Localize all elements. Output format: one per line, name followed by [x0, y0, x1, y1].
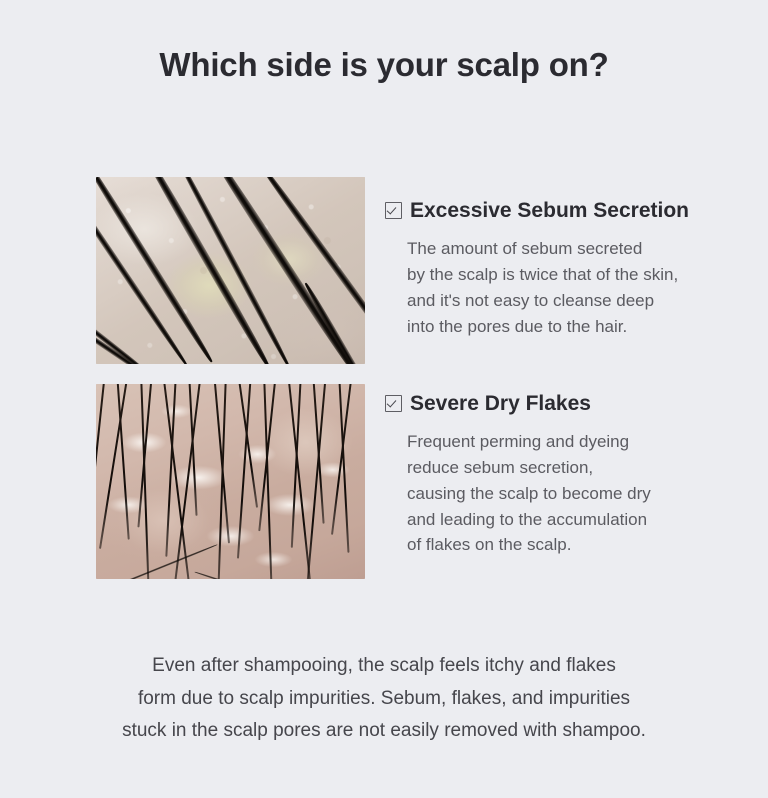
- feature-body-flakes: Frequent perming and dyeing reduce sebum…: [407, 429, 697, 558]
- feature-text-sebum: Excessive Sebum Secretion The amount of …: [385, 177, 697, 339]
- feature-block-sebum: Excessive Sebum Secretion The amount of …: [96, 177, 697, 364]
- feature-heading-label: Excessive Sebum Secretion: [410, 199, 689, 222]
- feature-body-sebum: The amount of sebum secreted by the scal…: [407, 236, 697, 339]
- body-line: by the scalp is twice that of the skin,: [407, 262, 697, 288]
- feature-block-flakes: Severe Dry Flakes Frequent perming and d…: [96, 384, 697, 579]
- microscope-scalp-flakes-photo: [96, 384, 365, 579]
- microscope-scalp-sebum-photo: [96, 177, 365, 364]
- body-line: and it's not easy to cleanse deep: [407, 288, 697, 314]
- checkbox-checked-icon[interactable]: [385, 202, 402, 219]
- promo-page: Which side is your scalp on? Excessive S…: [0, 0, 768, 798]
- feature-heading-label: Severe Dry Flakes: [410, 392, 591, 415]
- footer-summary: Even after shampooing, the scalp feels i…: [0, 650, 768, 748]
- body-line: and leading to the accumulation: [407, 507, 697, 533]
- feature-heading-flakes: Severe Dry Flakes: [385, 392, 697, 415]
- body-line: Frequent perming and dyeing: [407, 429, 697, 455]
- footer-line: Even after shampooing, the scalp feels i…: [0, 650, 768, 683]
- footer-line: form due to scalp impurities. Sebum, fla…: [0, 683, 768, 716]
- body-line: into the pores due to the hair.: [407, 314, 697, 340]
- feature-text-flakes: Severe Dry Flakes Frequent perming and d…: [385, 384, 697, 558]
- feature-heading-sebum: Excessive Sebum Secretion: [385, 199, 697, 222]
- body-line: The amount of sebum secreted: [407, 236, 697, 262]
- body-line: causing the scalp to become dry: [407, 481, 697, 507]
- checkbox-checked-icon[interactable]: [385, 395, 402, 412]
- body-line: of flakes on the scalp.: [407, 532, 697, 558]
- page-title: Which side is your scalp on?: [0, 46, 768, 84]
- body-line: reduce sebum secretion,: [407, 455, 697, 481]
- footer-line: stuck in the scalp pores are not easily …: [0, 715, 768, 748]
